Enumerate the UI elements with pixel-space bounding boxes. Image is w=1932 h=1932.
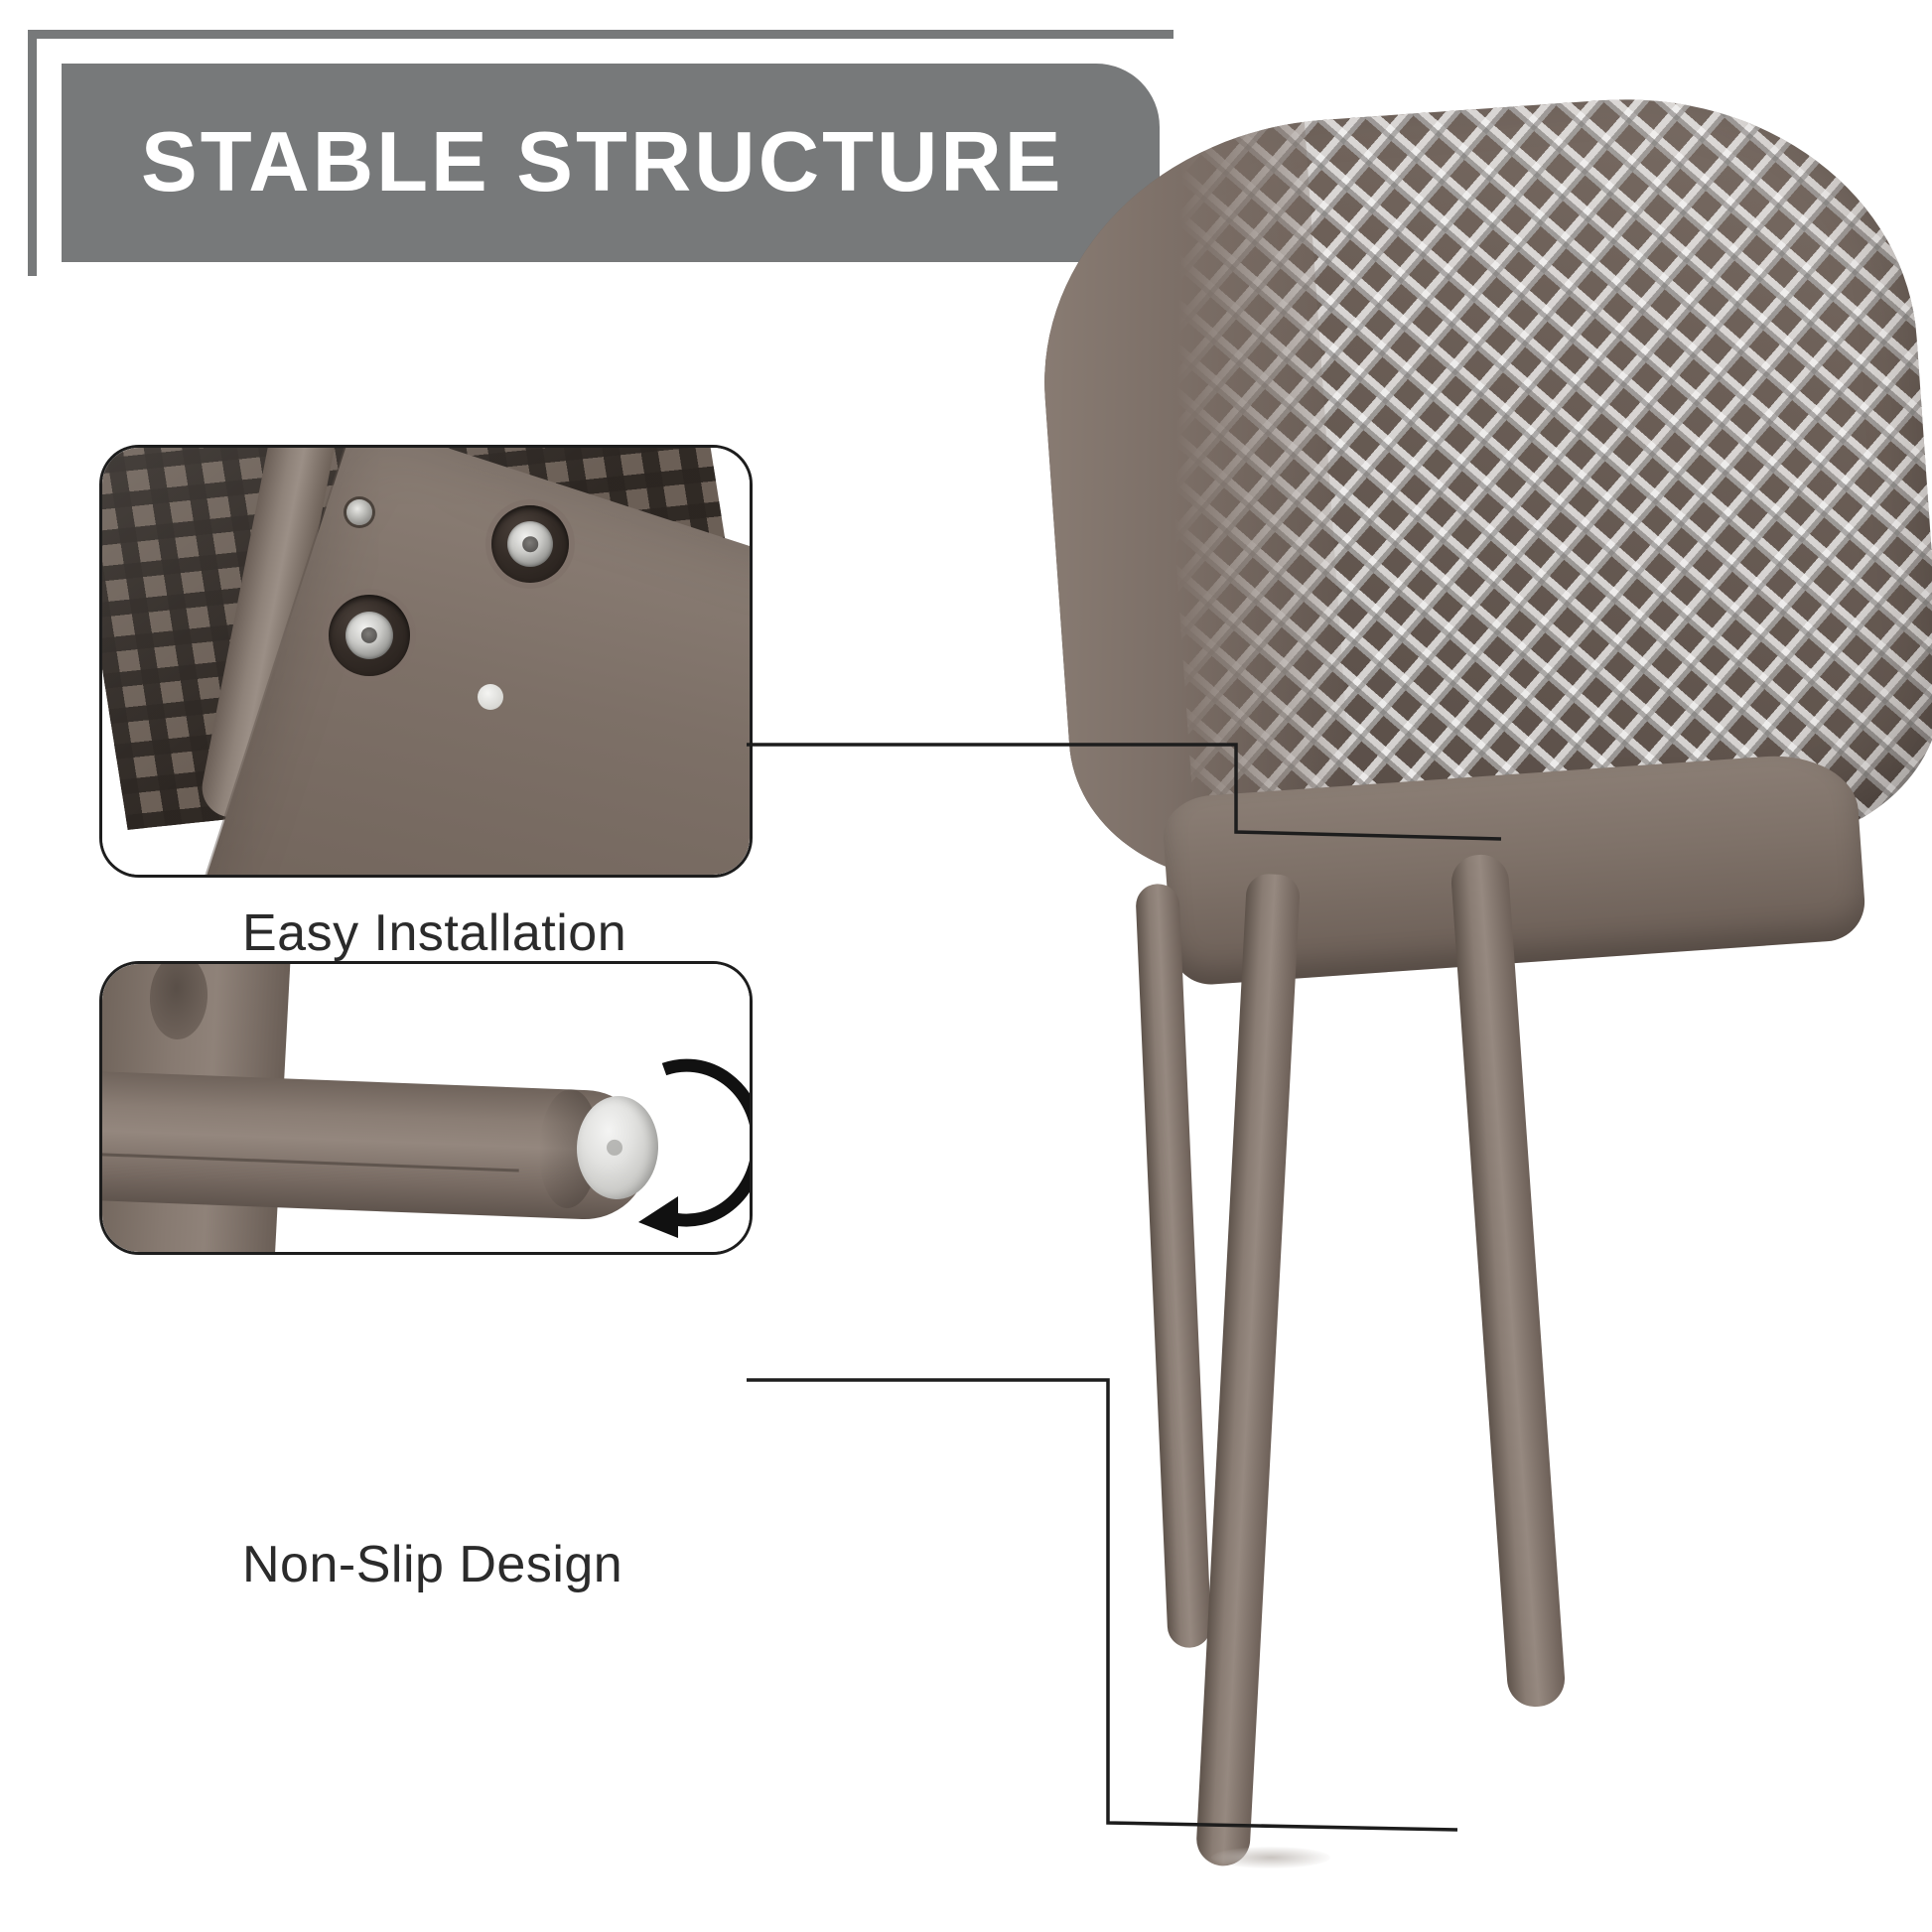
callout-card-non-slip-design[interactable] (99, 961, 753, 1255)
caption-non-slip-design: Non-Slip Design (242, 1535, 622, 1594)
product-photo-chair (1013, 89, 1932, 1866)
photo-non-slip-design (102, 964, 750, 1252)
screw-boss-upper (491, 505, 569, 583)
frame-top-line (28, 30, 1173, 39)
chair-leg-back (1135, 883, 1212, 1648)
infographic-canvas: STABLE STRUCTURE Easy Installation (0, 0, 1932, 1932)
floor-shadow (1211, 1847, 1330, 1868)
small-screw-icon (346, 499, 372, 525)
page-title: STABLE STRUCTURE (141, 113, 1063, 212)
screw-icon (345, 612, 393, 659)
photo-easy-installation (102, 448, 750, 875)
shell-rim (1028, 121, 1357, 894)
frame-left-line (28, 30, 37, 276)
caption-easy-installation: Easy Installation (242, 903, 626, 963)
screw-boss-lower (329, 595, 410, 676)
header-banner: STABLE STRUCTURE (62, 64, 1160, 262)
mould-mark-icon (478, 684, 503, 710)
chair-leg-right (1449, 853, 1567, 1709)
screw-icon (507, 521, 553, 567)
rotation-arrow-icon (634, 1047, 750, 1246)
callout-card-easy-installation[interactable] (99, 445, 753, 878)
chair-leg-front (1195, 873, 1301, 1866)
